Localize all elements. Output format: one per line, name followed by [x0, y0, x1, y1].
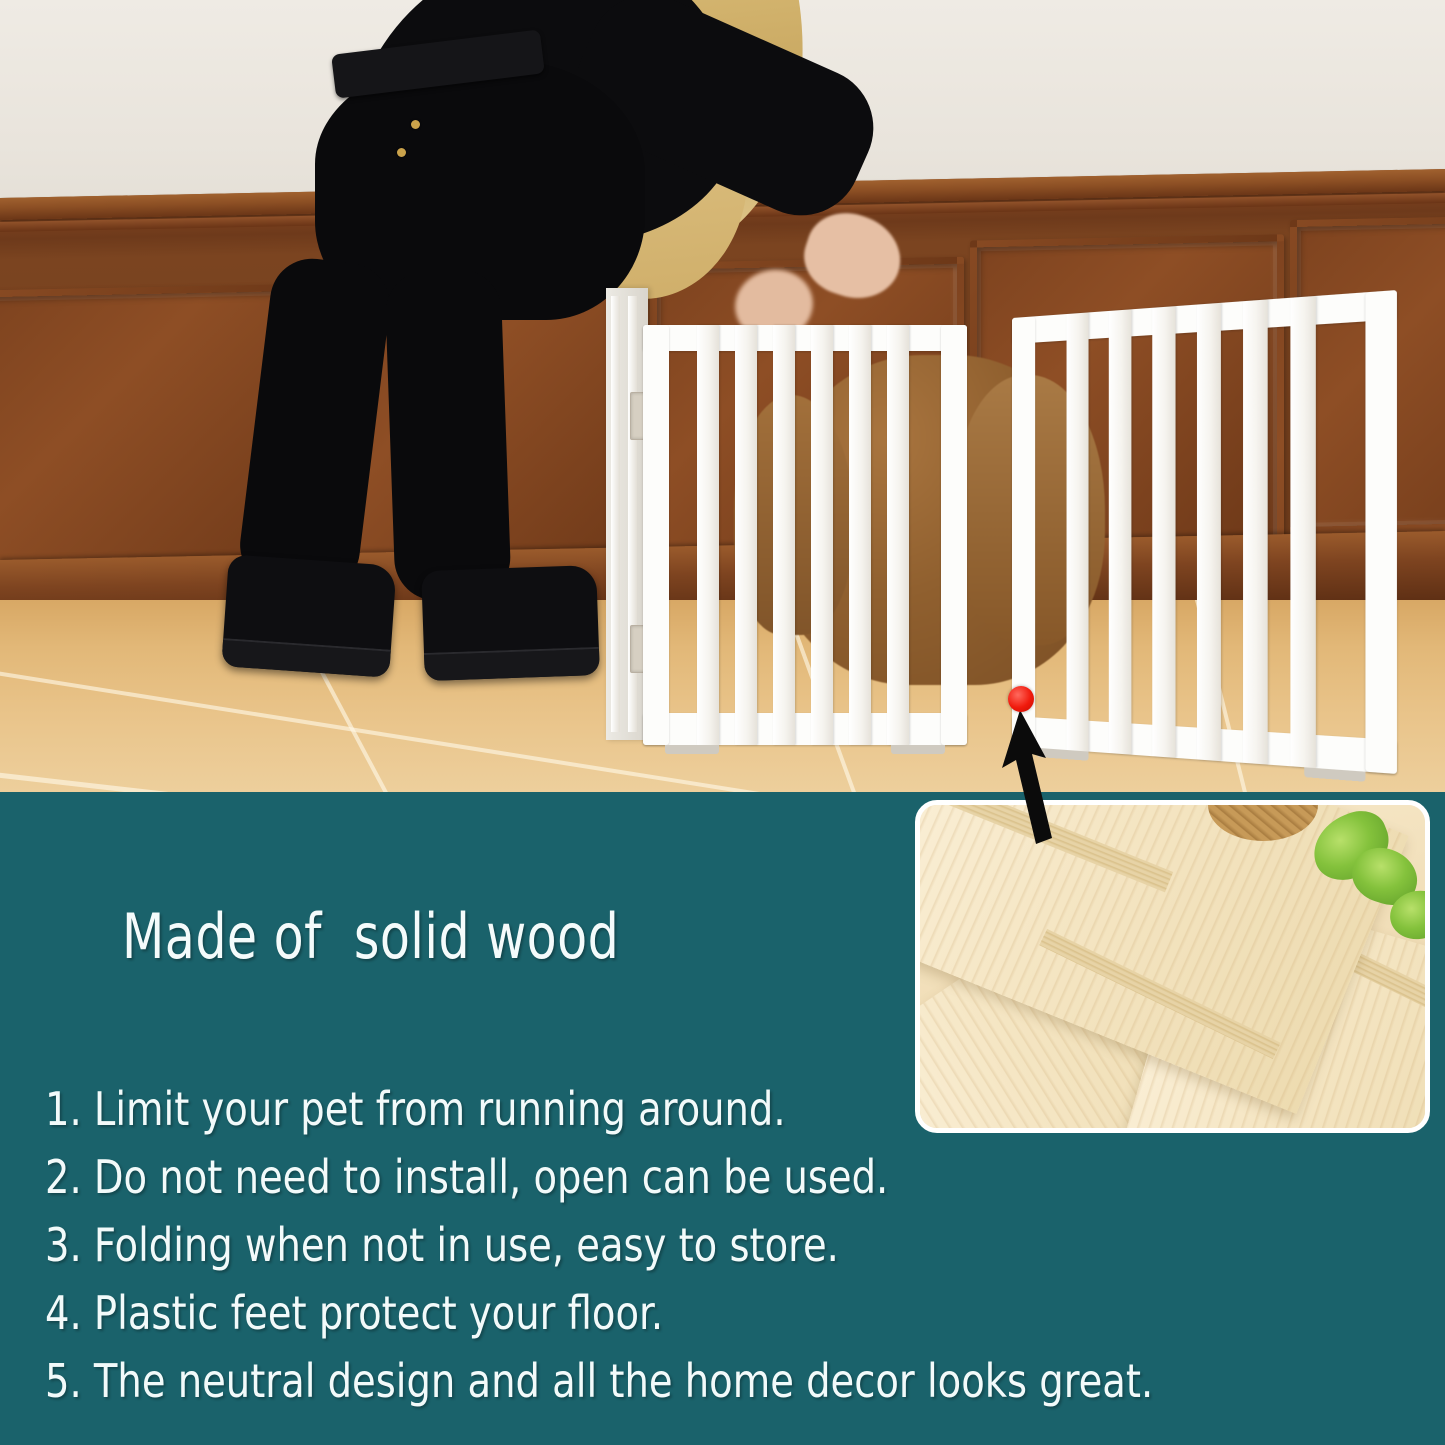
gate-slat [849, 325, 871, 745]
gate-bottom-rail [643, 713, 967, 745]
page-title: Made of solid wood [122, 906, 619, 968]
gate-slat [697, 325, 719, 745]
gate-left-stile [1012, 316, 1035, 747]
gate-slat [1243, 299, 1268, 764]
feature-list: 1. Limit your pet from running around. 2… [45, 1086, 1385, 1426]
gate-slat [773, 325, 795, 745]
list-item: 4. Plastic feet protect your floor. [45, 1290, 1291, 1336]
product-lifestyle-photo [0, 0, 1445, 792]
gate-slat [1109, 309, 1132, 754]
infographic-page: Made of solid wood 1. Limit your pet fro… [0, 0, 1445, 1445]
gate-plastic-foot [665, 745, 719, 754]
gate-slat [811, 325, 833, 745]
callout-arrow-icon [990, 694, 1100, 844]
gate-top-rail [643, 325, 967, 351]
gate-slat [611, 296, 620, 732]
gate-slat [1067, 312, 1089, 751]
list-item: 2. Do not need to install, open can be u… [45, 1154, 1291, 1200]
list-item: 5. The neutral design and all the home d… [45, 1358, 1291, 1404]
gate-slat [1152, 306, 1175, 758]
list-item: 3. Folding when not in use, easy to stor… [45, 1222, 1291, 1268]
pet-gate [0, 0, 1445, 792]
gate-right-stile [941, 325, 967, 745]
gate-slat [887, 325, 909, 745]
gate-panel-middle [643, 325, 967, 745]
gate-left-stile [643, 325, 669, 745]
red-dot-marker [1008, 686, 1034, 712]
gate-plastic-foot [891, 745, 945, 754]
gate-slat [1197, 303, 1221, 761]
gate-right-stile [1365, 290, 1396, 774]
gate-slat [735, 325, 757, 745]
gate-slat [1290, 296, 1315, 768]
wood-closeup-inset [915, 800, 1430, 1133]
